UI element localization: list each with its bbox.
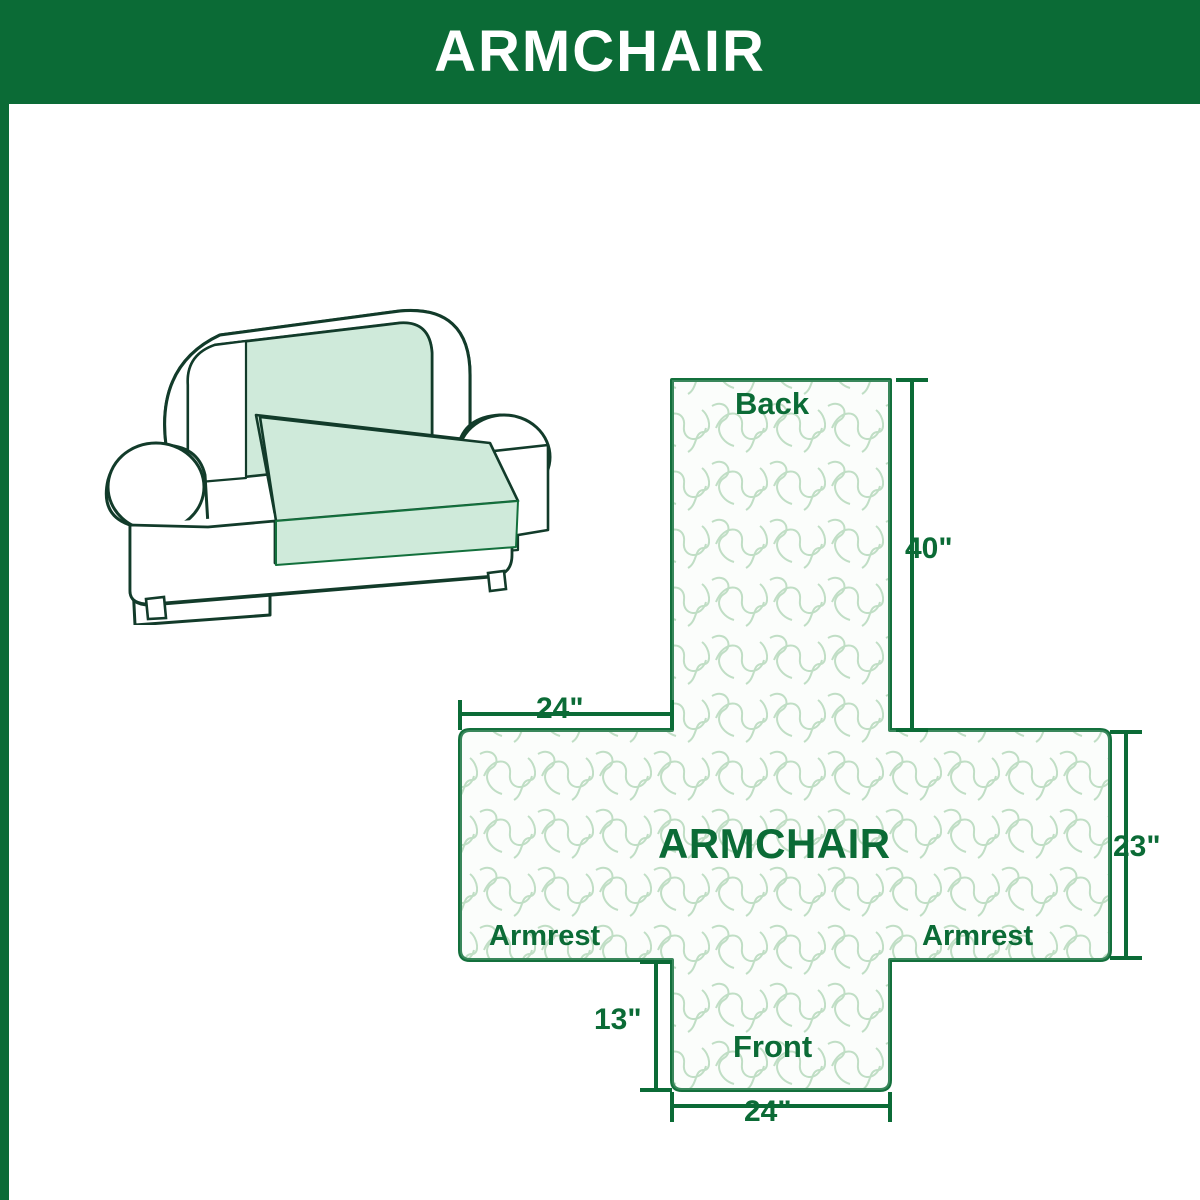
dimension-label-front-width: 24": [744, 1097, 792, 1127]
dimension-label-back-length: 40": [905, 534, 953, 564]
label-armrest-left: Armrest: [489, 922, 600, 951]
label-armrest-right: Armrest: [922, 922, 1033, 951]
label-back: Back: [735, 388, 809, 419]
cover-outline: [460, 380, 1110, 1090]
diagram-canvas: ARMCHAIR: [0, 0, 1200, 1200]
dimension-label-seat-depth: 23": [1113, 832, 1161, 862]
dimension-label-back-width: 24": [536, 694, 584, 724]
dimension-13in: [640, 962, 672, 1090]
label-front: Front: [733, 1031, 812, 1062]
dimension-label-front-drop: 13": [594, 1005, 642, 1035]
header-bar: ARMCHAIR: [0, 0, 1200, 104]
label-armchair-center: ARMCHAIR: [658, 823, 891, 865]
page-title: ARMCHAIR: [434, 23, 766, 81]
left-accent-bar: [0, 104, 9, 1200]
cover-pattern-diagram: [420, 340, 1160, 1140]
